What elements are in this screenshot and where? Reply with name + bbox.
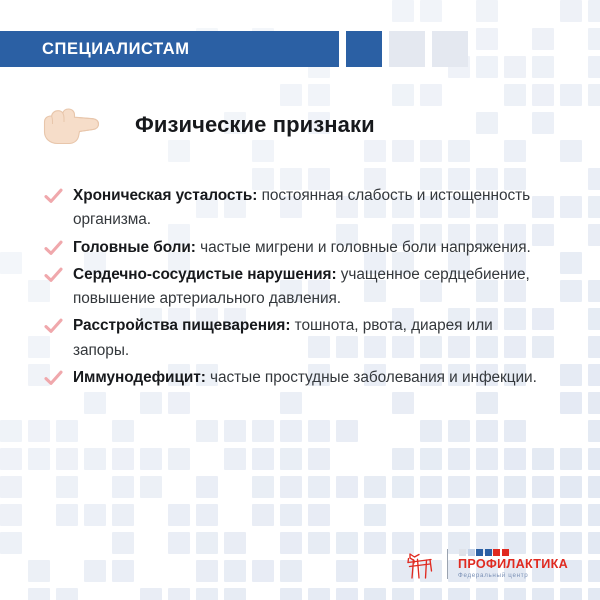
watermark-square: [308, 420, 330, 442]
watermark-square: [280, 532, 302, 554]
watermark-square: [532, 84, 554, 106]
watermark-square: [420, 448, 442, 470]
watermark-square: [588, 504, 600, 526]
section-title-row: Физические признаки: [40, 100, 375, 150]
watermark-square: [588, 532, 600, 554]
horse-chair-logo-icon: [404, 546, 438, 582]
watermark-square: [588, 560, 600, 582]
watermark-square: [168, 392, 190, 414]
watermark-square: [196, 532, 218, 554]
watermark-square: [392, 392, 414, 414]
list-item-description: частые простудные заболевания и инфекции…: [206, 369, 537, 386]
watermark-square: [588, 28, 600, 50]
logo-square-4: [485, 549, 492, 556]
watermark-square: [532, 28, 554, 50]
watermark-square: [336, 420, 358, 442]
list-item: Сердечно-сосудистые нарушения: учащенное…: [44, 263, 544, 312]
watermark-square: [504, 504, 526, 526]
watermark-square: [504, 84, 526, 106]
watermark-square: [252, 476, 274, 498]
watermark-square: [420, 504, 442, 526]
watermark-square: [224, 560, 246, 582]
watermark-square: [28, 560, 50, 582]
watermark-square: [504, 420, 526, 442]
watermark-square: [224, 420, 246, 442]
watermark-square: [308, 476, 330, 498]
watermark-square: [336, 476, 358, 498]
watermark-square: [112, 532, 134, 554]
watermark-square: [588, 448, 600, 470]
watermark-square: [420, 476, 442, 498]
check-icon: [44, 267, 63, 284]
watermark-square: [448, 476, 470, 498]
watermark-square: [336, 532, 358, 554]
watermark-square: [588, 308, 600, 330]
watermark-square: [56, 588, 78, 600]
pointing-right-hand-icon: [40, 100, 102, 150]
watermark-square: [56, 420, 78, 442]
list-item-term: Иммунодефицит:: [73, 369, 206, 386]
watermark-square: [56, 504, 78, 526]
watermark-square: [28, 448, 50, 470]
watermark-square: [392, 448, 414, 470]
watermark-square: [532, 476, 554, 498]
watermark-square: [224, 448, 246, 470]
watermark-square: [308, 588, 330, 600]
watermark-square: [280, 560, 302, 582]
watermark-square: [112, 476, 134, 498]
watermark-square: [532, 112, 554, 134]
watermark-square: [504, 448, 526, 470]
watermark-square: [560, 504, 582, 526]
footer-logo: ПРОФИЛАКТИКА Федеральный центр: [404, 546, 568, 582]
watermark-square: [0, 448, 22, 470]
list-item: Хроническая усталость: постоянная слабос…: [44, 184, 544, 233]
watermark-square: [476, 448, 498, 470]
watermark-square: [392, 140, 414, 162]
watermark-square: [0, 504, 22, 526]
logo-color-squares: [459, 549, 509, 556]
watermark-square: [392, 588, 414, 600]
watermark-square: [84, 504, 106, 526]
watermark-square: [476, 56, 498, 78]
logo-square-5: [493, 549, 500, 556]
list-item: Иммунодефицит: частые простудные заболев…: [44, 366, 544, 390]
watermark-square: [420, 420, 442, 442]
watermark-square: [532, 448, 554, 470]
watermark-square: [448, 588, 470, 600]
watermark-square: [308, 504, 330, 526]
watermark-square: [392, 476, 414, 498]
watermark-square: [588, 280, 600, 302]
watermark-square: [84, 392, 106, 414]
logo-name: ПРОФИЛАКТИКА: [458, 558, 568, 571]
watermark-square: [532, 56, 554, 78]
watermark-square: [448, 140, 470, 162]
check-icon: [44, 188, 63, 205]
watermark-square: [588, 84, 600, 106]
watermark-square: [476, 504, 498, 526]
watermark-square: [588, 0, 600, 22]
watermark-square: [364, 532, 386, 554]
watermark-square: [588, 56, 600, 78]
watermark-square: [56, 448, 78, 470]
watermark-square: [560, 252, 582, 274]
logo-divider: [447, 549, 448, 579]
list-item-description: частые мигрени и головные боли напряжени…: [196, 239, 531, 256]
watermark-square: [280, 476, 302, 498]
watermark-square: [168, 588, 190, 600]
page-title: Физические признаки: [135, 112, 375, 138]
watermark-square: [252, 448, 274, 470]
watermark-square: [588, 224, 600, 246]
watermark-square: [196, 420, 218, 442]
header-square-blue: [346, 31, 382, 67]
watermark-square: [560, 364, 582, 386]
watermark-square: [308, 448, 330, 470]
watermark-square: [504, 56, 526, 78]
watermark-square: [112, 560, 134, 582]
watermark-square: [196, 588, 218, 600]
watermark-square: [168, 504, 190, 526]
list-item-term: Сердечно-сосудистые нарушения:: [73, 266, 337, 283]
watermark-square: [84, 560, 106, 582]
watermark-square: [392, 84, 414, 106]
watermark-square: [448, 420, 470, 442]
watermark-square: [336, 588, 358, 600]
logo-square-6: [502, 549, 509, 556]
watermark-square: [476, 588, 498, 600]
watermark-square: [168, 532, 190, 554]
watermark-square: [588, 588, 600, 600]
watermark-square: [28, 420, 50, 442]
header: СПЕЦИАЛИСТАМ: [0, 31, 468, 67]
watermark-square: [588, 364, 600, 386]
watermark-square: [560, 588, 582, 600]
logo-square-2: [468, 549, 475, 556]
watermark-square: [0, 252, 22, 274]
watermark-square: [560, 0, 582, 22]
logo-text-block: ПРОФИЛАКТИКА Федеральный центр: [458, 549, 568, 579]
check-icon: [44, 318, 63, 335]
watermark-square: [560, 196, 582, 218]
watermark-square: [476, 420, 498, 442]
watermark-square: [112, 504, 134, 526]
watermark-square: [280, 504, 302, 526]
watermark-square: [560, 140, 582, 162]
watermark-square: [0, 476, 22, 498]
watermark-square: [140, 588, 162, 600]
watermark-square: [504, 140, 526, 162]
watermark-square: [560, 280, 582, 302]
watermark-square: [476, 392, 498, 414]
watermark-square: [168, 448, 190, 470]
header-square-gray-2: [432, 31, 468, 67]
watermark-square: [280, 448, 302, 470]
list-item-term: Головные боли:: [73, 239, 196, 256]
watermark-square: [504, 588, 526, 600]
watermark-square: [224, 532, 246, 554]
watermark-square: [476, 112, 498, 134]
watermark-square: [280, 588, 302, 600]
watermark-square: [532, 588, 554, 600]
watermark-square: [28, 588, 50, 600]
watermark-square: [364, 476, 386, 498]
watermark-square: [336, 560, 358, 582]
watermark-square: [560, 476, 582, 498]
logo-subtitle: Федеральный центр: [458, 573, 528, 579]
check-icon: [44, 370, 63, 387]
header-square-gray-1: [389, 31, 425, 67]
watermark-square: [560, 84, 582, 106]
watermark-square: [140, 392, 162, 414]
logo-square-3: [476, 549, 483, 556]
watermark-square: [588, 336, 600, 358]
watermark-square: [532, 504, 554, 526]
watermark-square: [420, 588, 442, 600]
watermark-square: [420, 0, 442, 22]
watermark-square: [588, 168, 600, 190]
watermark-square: [308, 532, 330, 554]
watermark-square: [420, 140, 442, 162]
watermark-square: [112, 448, 134, 470]
header-title: СПЕЦИАЛИСТАМ: [42, 40, 190, 59]
watermark-square: [196, 476, 218, 498]
watermark-square: [448, 504, 470, 526]
list-item-term: Хроническая усталость:: [73, 187, 257, 204]
watermark-square: [252, 560, 274, 582]
watermark-square: [504, 476, 526, 498]
watermark-square: [588, 392, 600, 414]
watermark-square: [364, 588, 386, 600]
header-bar: СПЕЦИАЛИСТАМ: [0, 31, 339, 67]
list-item: Расстройства пищеварения: тошнота, рвота…: [44, 314, 544, 363]
watermark-square: [560, 448, 582, 470]
watermark-square: [588, 476, 600, 498]
watermark-square: [0, 532, 22, 554]
watermark-square: [56, 476, 78, 498]
watermark-square: [112, 420, 134, 442]
watermark-square: [420, 84, 442, 106]
watermark-square: [476, 0, 498, 22]
watermark-square: [280, 420, 302, 442]
watermark-square: [476, 476, 498, 498]
watermark-square: [252, 504, 274, 526]
watermark-square: [476, 28, 498, 50]
watermark-square: [588, 420, 600, 442]
watermark-square: [84, 448, 106, 470]
check-icon: [44, 240, 63, 257]
watermark-square: [140, 476, 162, 498]
watermark-square: [196, 560, 218, 582]
list-item-term: Расстройства пищеварения:: [73, 317, 290, 334]
watermark-square: [252, 420, 274, 442]
watermark-square: [0, 420, 22, 442]
watermark-square: [588, 196, 600, 218]
watermark-square: [392, 0, 414, 22]
list-item: Головные боли: частые мигрени и головные…: [44, 236, 544, 260]
watermark-square: [560, 392, 582, 414]
watermark-square: [196, 504, 218, 526]
watermark-square: [448, 448, 470, 470]
watermark-square: [140, 448, 162, 470]
watermark-square: [224, 588, 246, 600]
slide-canvas: СПЕЦИАЛИСТАМ Физические признаки Хрониче…: [0, 0, 600, 600]
logo-square-1: [459, 549, 466, 556]
symptom-list: Хроническая усталость: постоянная слабос…: [44, 184, 544, 393]
watermark-square: [364, 504, 386, 526]
watermark-square: [280, 392, 302, 414]
